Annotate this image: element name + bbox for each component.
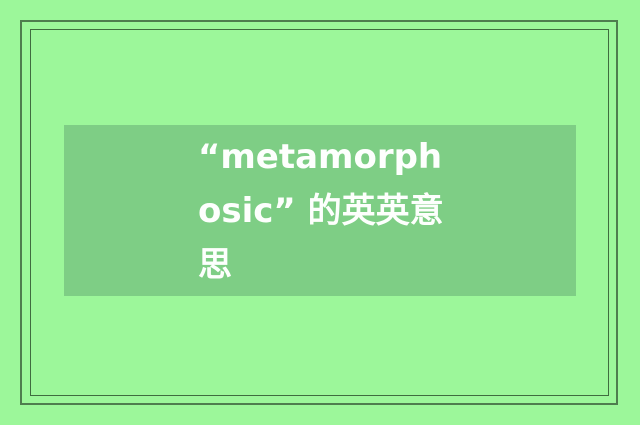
page-title: “metamorphosic” 的英英意思: [198, 130, 460, 292]
title-panel: “metamorphosic” 的英英意思: [64, 125, 576, 296]
